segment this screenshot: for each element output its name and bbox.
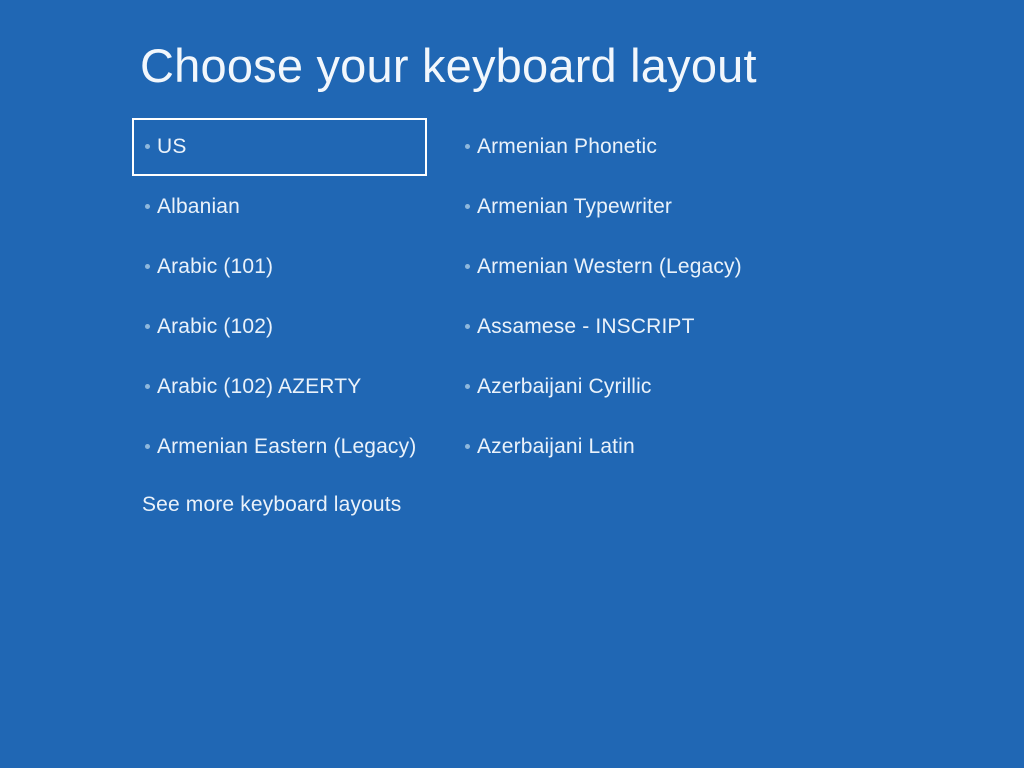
layout-option[interactable]: Armenian Eastern (Legacy): [132, 418, 427, 476]
layout-option-label: Arabic (101): [157, 254, 273, 280]
layout-option[interactable]: Albanian: [132, 178, 427, 236]
layout-option-label: US: [157, 134, 186, 160]
layout-option-label: Armenian Eastern (Legacy): [157, 434, 416, 460]
bullet-icon: [145, 144, 150, 149]
layout-option[interactable]: US: [132, 118, 427, 176]
see-more-keyboard-layouts-link[interactable]: See more keyboard layouts: [142, 492, 401, 518]
keyboard-layout-screen: Choose your keyboard layout USAlbanianAr…: [0, 0, 1024, 768]
layout-option[interactable]: Azerbaijani Cyrillic: [452, 358, 747, 416]
layout-option-label: Azerbaijani Cyrillic: [477, 374, 652, 400]
bullet-icon: [465, 444, 470, 449]
layout-option[interactable]: Assamese - INSCRIPT: [452, 298, 747, 356]
layout-option[interactable]: Armenian Phonetic: [452, 118, 747, 176]
bullet-icon: [465, 384, 470, 389]
layout-option-label: Assamese - INSCRIPT: [477, 314, 695, 340]
bullet-icon: [145, 324, 150, 329]
layout-option-label: Azerbaijani Latin: [477, 434, 635, 460]
layout-column-right: Armenian PhoneticArmenian TypewriterArme…: [452, 0, 882, 768]
layout-option-label: Armenian Phonetic: [477, 134, 657, 160]
layout-option[interactable]: Arabic (101): [132, 238, 427, 296]
keyboard-layout-list: USAlbanianArabic (101)Arabic (102)Arabic…: [0, 0, 1024, 768]
layout-option-label: Armenian Typewriter: [477, 194, 672, 220]
bullet-icon: [145, 384, 150, 389]
bullet-icon: [465, 324, 470, 329]
layout-option-label: Arabic (102): [157, 314, 273, 340]
layout-option[interactable]: Armenian Typewriter: [452, 178, 747, 236]
layout-option[interactable]: Armenian Western (Legacy): [452, 238, 747, 296]
bullet-icon: [145, 204, 150, 209]
bullet-icon: [465, 144, 470, 149]
bullet-icon: [145, 444, 150, 449]
bullet-icon: [145, 264, 150, 269]
layout-option[interactable]: Azerbaijani Latin: [452, 418, 747, 476]
bullet-icon: [465, 264, 470, 269]
layout-option[interactable]: Arabic (102): [132, 298, 427, 356]
layout-option[interactable]: Arabic (102) AZERTY: [132, 358, 427, 416]
layout-option-label: Armenian Western (Legacy): [477, 254, 742, 280]
layout-option-label: Arabic (102) AZERTY: [157, 374, 361, 400]
bullet-icon: [465, 204, 470, 209]
layout-option-label: Albanian: [157, 194, 240, 220]
